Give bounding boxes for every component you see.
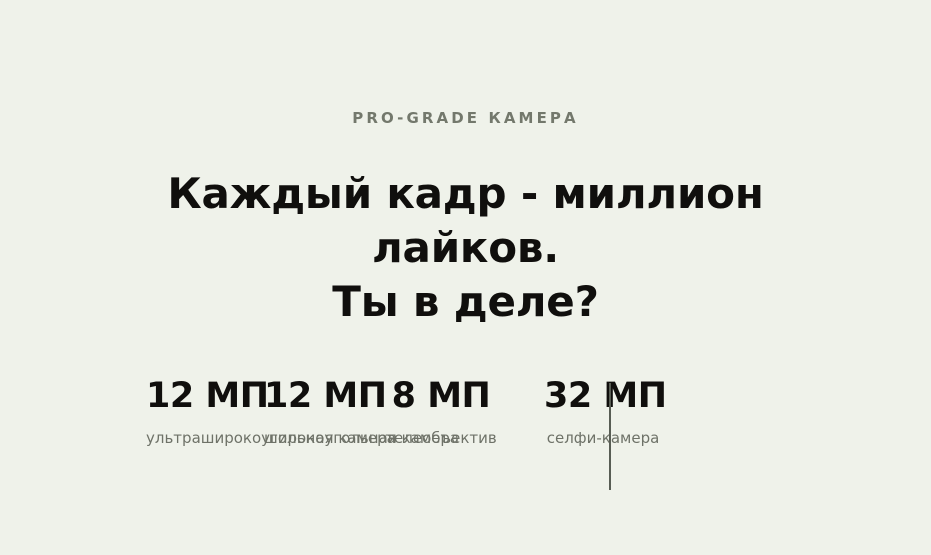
spec-divider xyxy=(609,383,611,490)
spec-item-wide: 12 МП широкоугольная камера xyxy=(264,378,382,450)
spec-label: ультраширокоугольная камера xyxy=(146,427,264,451)
eyebrow-label: PRO-GRADE КАМЕРА xyxy=(352,109,578,127)
spec-value: 12 МП xyxy=(264,378,382,416)
spec-item-ultrawide: 12 МП ультраширокоугольная камера xyxy=(146,378,264,450)
spec-label: телеобъектив xyxy=(382,427,500,451)
headline-line-2: Ты в деле? xyxy=(86,275,846,329)
camera-hero-section: PRO-GRADE КАМЕРА Каждый кадр - миллион л… xyxy=(0,0,931,555)
page-title: Каждый кадр - миллион лайков. Ты в деле? xyxy=(86,167,846,328)
camera-spec-list: 12 МП ультраширокоугольная камера 12 МП … xyxy=(146,378,786,450)
spec-label: широкоугольная камера xyxy=(264,427,382,451)
spec-value: 32 МП xyxy=(544,378,662,416)
spec-label: селфи-камера xyxy=(544,427,662,451)
spec-value: 8 МП xyxy=(382,378,500,416)
spec-value: 12 МП xyxy=(146,378,264,416)
spec-item-telephoto: 8 МП телеобъектив xyxy=(382,378,500,450)
spec-item-selfie: 32 МП селфи-камера xyxy=(544,378,662,450)
headline-line-1: Каждый кадр - миллион лайков. xyxy=(86,167,846,275)
